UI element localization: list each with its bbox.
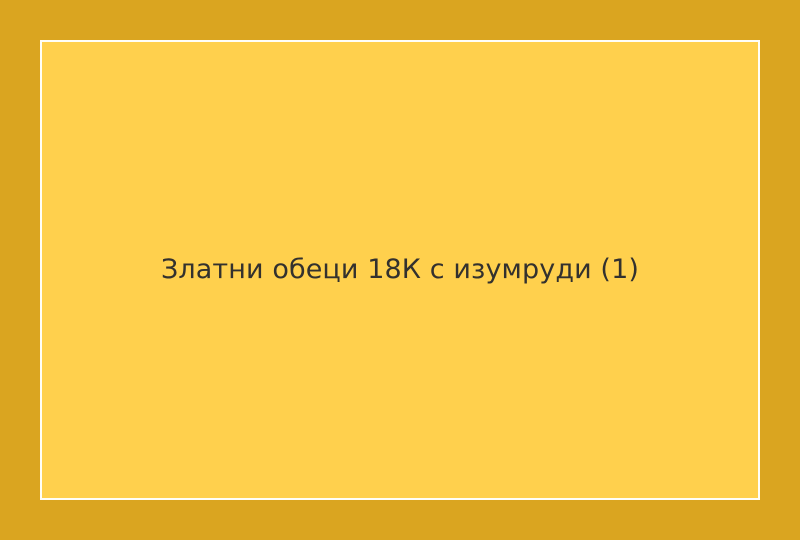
placeholder-caption-text: Златни обеци 18К с изумруди (1) [161,254,639,286]
placeholder-image-canvas: Златни обеци 18К с изумруди (1) [0,0,800,540]
image-placeholder-panel: Златни обеци 18К с изумруди (1) [40,40,760,500]
